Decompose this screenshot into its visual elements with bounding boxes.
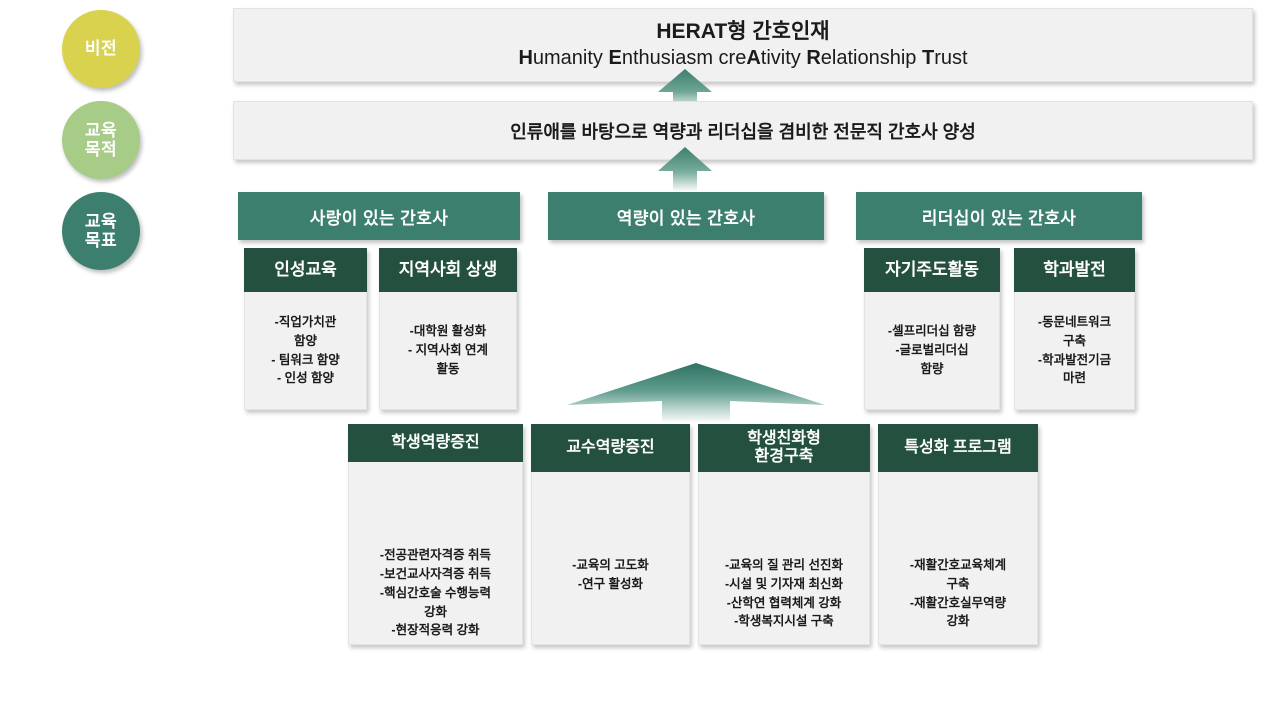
bottom-card-student-competency: 학생역량증진 -전공관련자격증 취득 -보건교사자격증 취득 -핵심간호술 수행… [348, 424, 523, 645]
sub-card-character-education: 인성교육 -직업가치관 함양 - 팀워크 함양 - 인성 함양 [244, 248, 367, 410]
bottom-card-specialized-program-header: 특성화 프로그램 [878, 424, 1038, 472]
diagram-canvas: 비전 교육 목적 교육 목표 HERAT형 간호인재 Humanity Enth… [0, 0, 1280, 720]
bottom-card-faculty-competency-body: -교육의 고도화 -연구 활성화 [531, 472, 690, 645]
sub-card-department-development-body: -동문네트워크 구축 -학과발전기금 마련 [1014, 292, 1135, 410]
pillar-header-competency: 역량이 있는 간호사 [548, 192, 824, 240]
stage-circle-goal-label: 교육 목표 [85, 212, 117, 250]
sub-card-community-coexistence-header: 지역사회 상생 [379, 248, 517, 292]
arrow-to-purpose-icon [655, 146, 715, 192]
purpose-banner: 인류애를 바탕으로 역량과 리더십을 겸비한 전문직 간호사 양성 [233, 101, 1253, 160]
sub-card-community-coexistence-body: -대학원 활성화 - 지역사회 연계 활동 [379, 292, 517, 410]
pillar-header-love-label: 사랑이 있는 간호사 [310, 204, 449, 229]
sub-card-department-development-header: 학과발전 [1014, 248, 1135, 292]
bottom-card-student-friendly-environment: 학생친화형 환경구축 -교육의 질 관리 선진화 -시설 및 기자재 최신화 -… [698, 424, 870, 645]
arrow-wide-up-icon [565, 361, 827, 423]
bottom-card-faculty-competency-header: 교수역량증진 [531, 424, 690, 472]
stage-circle-purpose-label: 교육 목적 [85, 121, 117, 159]
stage-circle-vision: 비전 [62, 10, 140, 88]
sub-card-character-education-body: -직업가치관 함양 - 팀워크 함양 - 인성 함양 [244, 292, 367, 410]
sub-card-community-coexistence: 지역사회 상생 -대학원 활성화 - 지역사회 연계 활동 [379, 248, 517, 410]
bottom-card-student-friendly-environment-header: 학생친화형 환경구축 [698, 424, 870, 472]
sub-card-self-directed-activity-body: -셀프리더십 함량 -글로벌리더십 함량 [864, 292, 1000, 410]
bottom-card-specialized-program-body: -재활간호교육체계 구축 -재활간호실무역량 강화 [878, 472, 1038, 645]
vision-title: HERAT형 간호인재 [656, 18, 829, 45]
purpose-text: 인류애를 바탕으로 역량과 리더십을 겸비한 전문직 간호사 양성 [510, 118, 976, 144]
stage-circle-purpose: 교육 목적 [62, 101, 140, 179]
bottom-card-student-friendly-environment-body: -교육의 질 관리 선진화 -시설 및 기자재 최신화 -산학연 협력체계 강화… [698, 472, 870, 645]
pillar-header-love: 사랑이 있는 간호사 [238, 192, 520, 240]
stage-circle-goal: 교육 목표 [62, 192, 140, 270]
sub-card-character-education-header: 인성교육 [244, 248, 367, 292]
bottom-card-faculty-competency: 교수역량증진 -교육의 고도화 -연구 활성화 [531, 424, 690, 645]
stage-circle-vision-label: 비전 [85, 39, 117, 58]
bottom-card-specialized-program: 특성화 프로그램 -재활간호교육체계 구축 -재활간호실무역량 강화 [878, 424, 1038, 645]
sub-card-self-directed-activity: 자기주도활동 -셀프리더십 함량 -글로벌리더십 함량 [864, 248, 1000, 410]
bottom-card-student-competency-header: 학생역량증진 [348, 424, 523, 462]
pillar-header-leadership: 리더십이 있는 간호사 [856, 192, 1142, 240]
vision-banner: HERAT형 간호인재 Humanity Enthusiasm creAtivi… [233, 8, 1253, 82]
vision-subtitle: Humanity Enthusiasm creAtivity Relations… [518, 45, 967, 72]
pillar-header-competency-label: 역량이 있는 간호사 [617, 204, 756, 229]
bottom-card-student-competency-body: -전공관련자격증 취득 -보건교사자격증 취득 -핵심간호술 수행능력 강화 -… [348, 462, 523, 645]
pillar-header-leadership-label: 리더십이 있는 간호사 [922, 204, 1077, 229]
sub-card-department-development: 학과발전 -동문네트워크 구축 -학과발전기금 마련 [1014, 248, 1135, 410]
sub-card-self-directed-activity-header: 자기주도활동 [864, 248, 1000, 292]
